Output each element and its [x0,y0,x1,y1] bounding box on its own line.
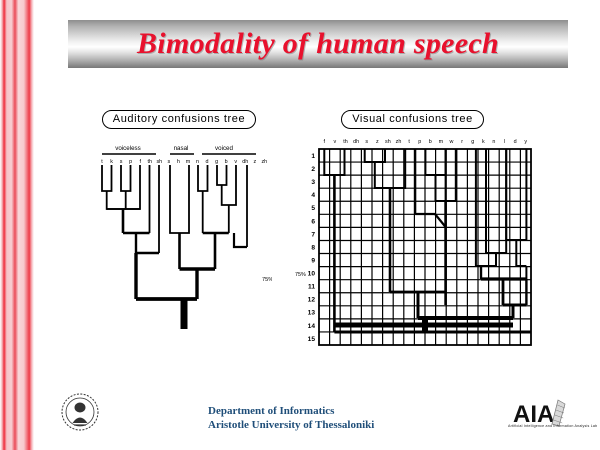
visual-leaf-label: r [461,139,463,145]
aud-merge-bv [217,165,227,185]
visual-leaf-label: zh [396,139,402,145]
aud-merge-tk [102,165,112,191]
aud-merge-mn [170,165,189,233]
auditory-group-label-nasal: nasal [174,145,189,152]
visual-leaf-label: l [504,139,505,145]
auditory-dendrogram: voiceless nasal voiced tkspfthshshmndgbv… [86,129,272,344]
title-banner: Bimodality of human speech [68,20,568,68]
visual-row-label: 2 [311,166,315,173]
page-title: Bimodality of human speech [137,27,499,61]
visual-leaf-label: k [482,139,485,145]
visual-leaf-label: w [449,139,454,145]
auditory-leaf-label: h [177,159,180,165]
auditory-leaf-label: z [253,159,256,165]
slide-canvas: Bimodality of human speech Auditory conf… [0,0,600,450]
aud-merge-sp [121,165,131,191]
visual-row-label: 4 [311,192,315,199]
visual-scale-label: 75% [295,272,306,278]
auditory-leaf-label: zh [261,159,267,165]
visual-leaf-label: y [524,139,527,145]
left-accent-stripe [0,0,34,450]
auditory-leaf-label: th [148,159,153,165]
vis-merge-thdh [365,149,385,162]
auditory-leaf-label: p [129,159,132,165]
visual-leaf-label: v [334,139,337,145]
visual-row-label: 1 [311,153,315,160]
visual-leaf-label: g [471,139,474,145]
footer-line-2: Aristotle University of Thessaloniki [208,418,374,432]
aud-merge-dg [198,165,208,191]
aristotle-university-seal-icon [60,392,100,432]
auditory-leaf-label: b [225,159,228,165]
visual-row-label: 14 [308,323,316,330]
visual-leaf-label: t [408,139,410,145]
visual-leaf-label: d [514,139,517,145]
visual-leaf-label: z [376,139,379,145]
visual-row-label: 5 [311,205,315,212]
aud-merge-voiceless3 [136,233,159,253]
visual-row-label: 8 [311,244,315,251]
aud-merge-voiced2 [234,233,247,247]
footer-affiliation: Department of Informatics Aristotle Univ… [208,404,374,432]
auditory-group-label-voiced: voiced [215,145,233,152]
visual-dendrogram: fvthdhszshzhtpbmwrgknldy 123456789101112… [285,129,540,354]
visual-leaf-label: th [343,139,348,145]
auditory-leaf-label: n [196,159,199,165]
visual-leaf-label: sh [385,139,391,145]
visual-row-label: 9 [311,257,315,264]
auditory-leaf-label: dh [242,159,248,165]
auditory-leaf-label: s [167,159,170,165]
visual-leaf-label: m [439,139,444,145]
visual-grid [319,149,531,345]
visual-row-label: 13 [308,310,316,317]
auditory-panel-caption: Auditory confusions tree [102,110,256,129]
visual-row-label: 7 [311,231,315,238]
visual-panel-caption: Visual confusions tree [341,110,484,129]
auditory-leaf-label: f [139,159,141,165]
visual-leaf-label: dh [353,139,359,145]
visual-row-label: 3 [311,179,315,186]
auditory-group-label-voiceless: voiceless [115,145,140,152]
auditory-leaf-label: t [101,159,103,165]
visual-leaf-label: n [492,139,495,145]
auditory-leaf-label: sh [156,159,162,165]
auditory-leaf-label: m [186,159,191,165]
auditory-scale-label: 75% [262,277,272,283]
visual-row-label: 10 [308,271,316,278]
auditory-leaf-label: v [234,159,237,165]
visual-row-label: 12 [308,297,316,304]
auditory-confusions-panel: Auditory confusions tree voiceless nasal… [86,110,272,355]
visual-confusions-panel: Visual confusions tree fvthdhszshzhtpbmw… [285,110,540,365]
auditory-leaf-label: g [215,159,218,165]
auditory-leaf-label: k [110,159,113,165]
visual-row-label: 11 [308,284,315,291]
visual-leaf-label: p [418,139,421,145]
visual-leaf-label: b [429,139,432,145]
vis-merge-thdhs [375,149,405,188]
visual-leaf-label: s [365,139,368,145]
vis-merge-z-diag [415,214,445,227]
visual-leaf-label: f [324,139,326,145]
visual-row-label: 6 [311,218,315,225]
footer-line-1: Department of Informatics [208,404,374,418]
auditory-leaf-label: d [206,159,209,165]
aiia-lab-caption: Artificial Intelligence and Information … [508,424,570,428]
visual-row-label: 15 [308,336,316,343]
auditory-leaf-label: s [120,159,123,165]
